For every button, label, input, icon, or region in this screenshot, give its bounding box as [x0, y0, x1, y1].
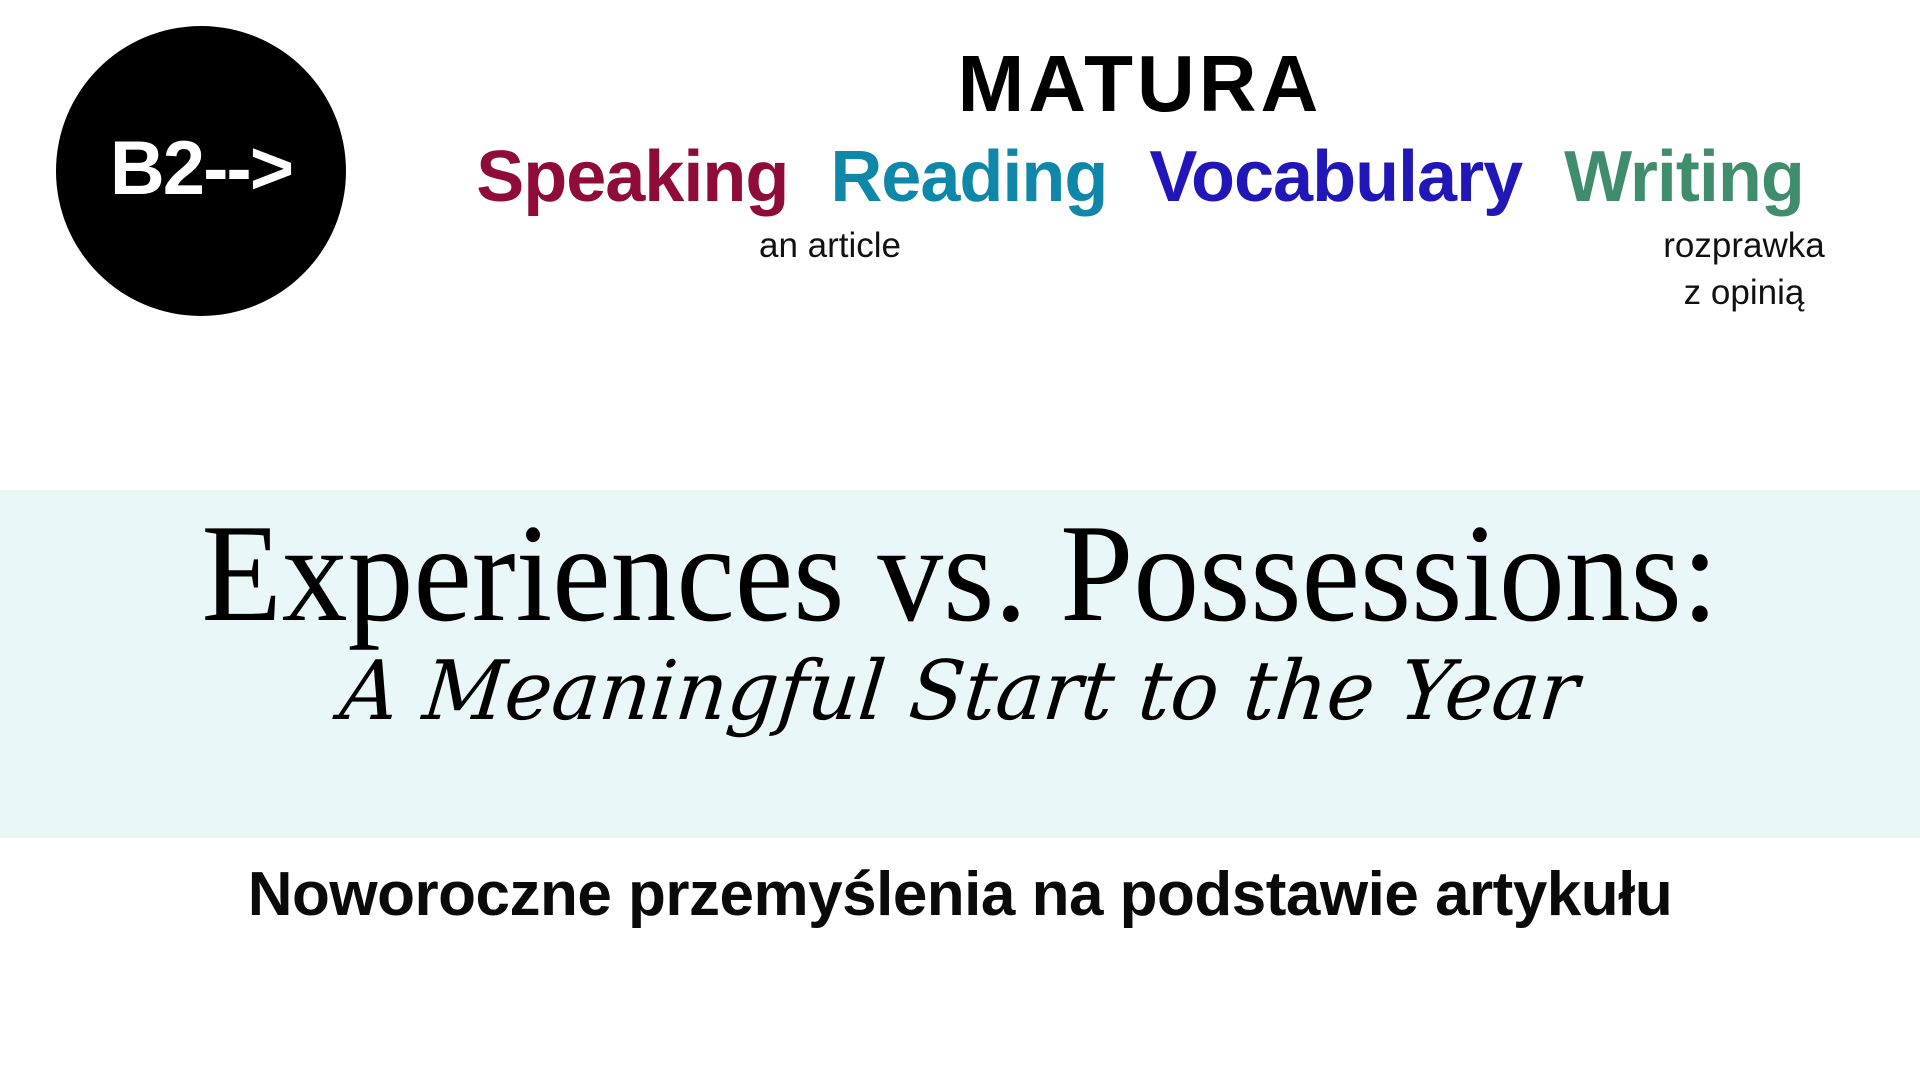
- polish-subtitle: Noworoczne przemyślenia na podstawie art…: [0, 858, 1920, 932]
- skill-reading: Reading: [830, 140, 1107, 216]
- level-badge-circle: B2-->: [56, 26, 346, 316]
- note-writing-line2: z opinią: [1594, 269, 1894, 316]
- exam-title: MATURA: [380, 42, 1900, 126]
- skill-notes: an article rozprawka z opinią: [380, 222, 1900, 342]
- skill-speaking: Speaking: [476, 140, 788, 216]
- skill-writing: Writing: [1564, 140, 1804, 216]
- note-writing-line1: rozprawka: [1594, 222, 1894, 269]
- slide-root: B2--> MATURA Speaking Reading Vocabulary…: [0, 0, 1920, 1080]
- skill-vocabulary: Vocabulary: [1149, 140, 1522, 216]
- title-band: Experiences vs. Possessions: A Meaningfu…: [0, 490, 1920, 838]
- script-subtitle: A Meaningful Start to the Year: [337, 647, 1583, 737]
- header-block: MATURA Speaking Reading Vocabulary Writi…: [380, 42, 1900, 342]
- top-section: B2--> MATURA Speaking Reading Vocabulary…: [0, 0, 1920, 490]
- note-writing: rozprawka z opinią: [1594, 222, 1894, 317]
- level-badge-label: B2-->: [110, 131, 292, 207]
- skills-row: Speaking Reading Vocabulary Writing: [380, 140, 1900, 216]
- note-reading: an article: [680, 222, 980, 269]
- footer-line: Noworoczne przemyślenia na podstawie art…: [0, 858, 1920, 932]
- main-title: Experiences vs. Possessions:: [202, 496, 1719, 653]
